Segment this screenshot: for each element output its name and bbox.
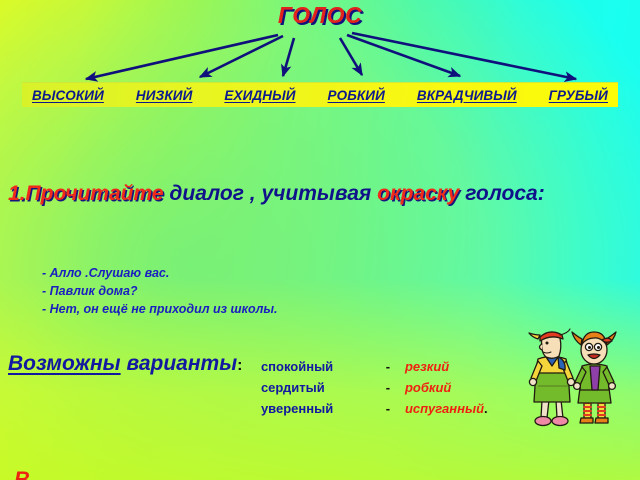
task-word-dialog: диалог , (164, 182, 262, 205)
dialog-line-3: - Нет, он ещё не приходил из школы. (42, 300, 278, 318)
dialog-line-2: - Павлик дома? (42, 282, 278, 300)
variant-pair-2: сердитый - робкий (261, 377, 488, 398)
task-word-uchityvaya: учитывая (261, 182, 371, 205)
task-word-golosa: голоса (465, 182, 538, 205)
task-instruction: 1.Прочитайте диалог , учитывая окраску г… (8, 180, 632, 207)
variant-dash-2: - (371, 377, 405, 398)
banner-item-nizkiy: НИЗКИЙ (136, 88, 192, 103)
variants-heading: Возможны варианты: (8, 352, 242, 376)
dialog-block: - Алло .Слушаю вас. - Павлик дома? - Нет… (42, 264, 278, 318)
banner-item-grubyy: ГРУБЫЙ (549, 88, 608, 103)
task-number: 1. (8, 182, 26, 205)
banner-item-robkiy: РОБКИЙ (328, 88, 385, 103)
variant-left-2: сердитый (261, 377, 371, 398)
variants-heading-colon: : (237, 357, 242, 374)
variant-pair-1: спокойный - резкий (261, 356, 488, 377)
variant-dash-3: - (371, 398, 405, 419)
variant-left-3: уверенный (261, 398, 371, 419)
cartoon-boy (529, 329, 575, 426)
variant-right-1: резкий (405, 356, 449, 377)
variant-right-2: робкий (405, 377, 451, 398)
voice-qualities-banner: ВЫСОКИЙ НИЗКИЙ ЕХИДНЫЙ РОБКИЙ ВКРАДЧИВЫЙ… (22, 82, 618, 107)
variants-heading-underlined: Возможны (8, 352, 121, 375)
variant-right-3: испуганный (405, 398, 484, 419)
variants-pairs: спокойный - резкий сердитый - робкий уве… (261, 356, 488, 419)
variant-left-1: спокойный (261, 356, 371, 377)
task-word-okrasku: окраску (371, 182, 465, 205)
banner-item-vkradchivyy: ВКРАДЧИВЫЙ (417, 88, 517, 103)
variant-dash-1: - (371, 356, 405, 377)
banner-item-vysokiy: ВЫСОКИЙ (32, 88, 104, 103)
variant-pair-3: уверенный - испуганный. (261, 398, 488, 419)
cartoon-girl (572, 332, 616, 423)
banner-item-ehidnyy: ЕХИДНЫЙ (224, 88, 295, 103)
slide-canvas: ГОЛОС ВЫСОКИЙ НИЗКИЙ ЕХИДНЫЙ РОБКИЙ ВКРА… (0, 0, 640, 480)
page-title: ГОЛОС (0, 2, 640, 29)
bottom-clipped-glyph: В (14, 469, 30, 480)
cartoon-kids-illustration (512, 326, 640, 438)
variants-heading-plain: варианты (121, 352, 238, 375)
task-verb: Прочитайте (26, 182, 164, 205)
task-colon: : (538, 182, 545, 205)
arrow-group (86, 33, 576, 79)
dialog-line-1: - Алло .Слушаю вас. (42, 264, 278, 282)
variant-period: . (484, 398, 488, 419)
